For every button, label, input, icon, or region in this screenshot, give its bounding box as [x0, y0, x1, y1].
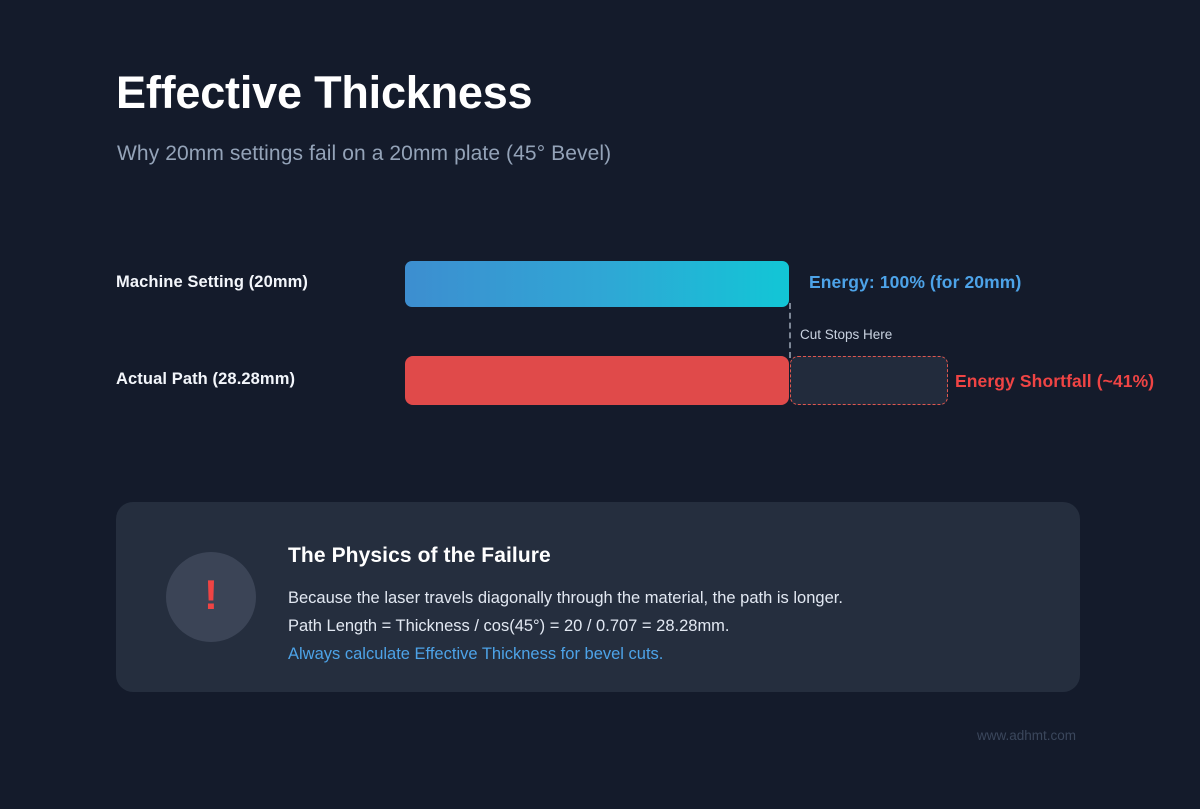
card-text-line-2: Path Length = Thickness / cos(45°) = 20 …: [288, 612, 1056, 640]
page-subtitle: Why 20mm settings fail on a 20mm plate (…: [117, 142, 611, 166]
bar-machine-setting: [405, 261, 789, 307]
bar-label-actual-path: Actual Path (28.28mm): [116, 370, 295, 389]
cut-stop-divider-line: [789, 303, 791, 358]
card-heading: The Physics of the Failure: [288, 544, 1056, 568]
annotation-energy-shortfall: Energy Shortfall (~41%): [955, 371, 1154, 392]
watermark: www.adhmt.com: [977, 728, 1076, 743]
exclamation-mark-icon: !: [204, 574, 218, 616]
bar-label-machine-setting: Machine Setting (20mm): [116, 273, 308, 292]
warning-circle: !: [166, 552, 256, 642]
bar-actual-path-shortfall: [790, 356, 948, 405]
card-text-line-1: Because the laser travels diagonally thr…: [288, 584, 1056, 612]
infographic-canvas: Effective Thickness Why 20mm settings fa…: [0, 0, 1200, 809]
physics-explanation-card: ! The Physics of the Failure Because the…: [116, 502, 1080, 692]
card-text-line-3-takeaway: Always calculate Effective Thickness for…: [288, 640, 1056, 668]
page-title: Effective Thickness: [116, 68, 532, 118]
bar-actual-path-covered: [405, 356, 789, 405]
annotation-energy-full: Energy: 100% (for 20mm): [809, 272, 1021, 293]
card-body: The Physics of the Failure Because the l…: [288, 544, 1056, 668]
annotation-cut-stops-here: Cut Stops Here: [800, 327, 892, 342]
